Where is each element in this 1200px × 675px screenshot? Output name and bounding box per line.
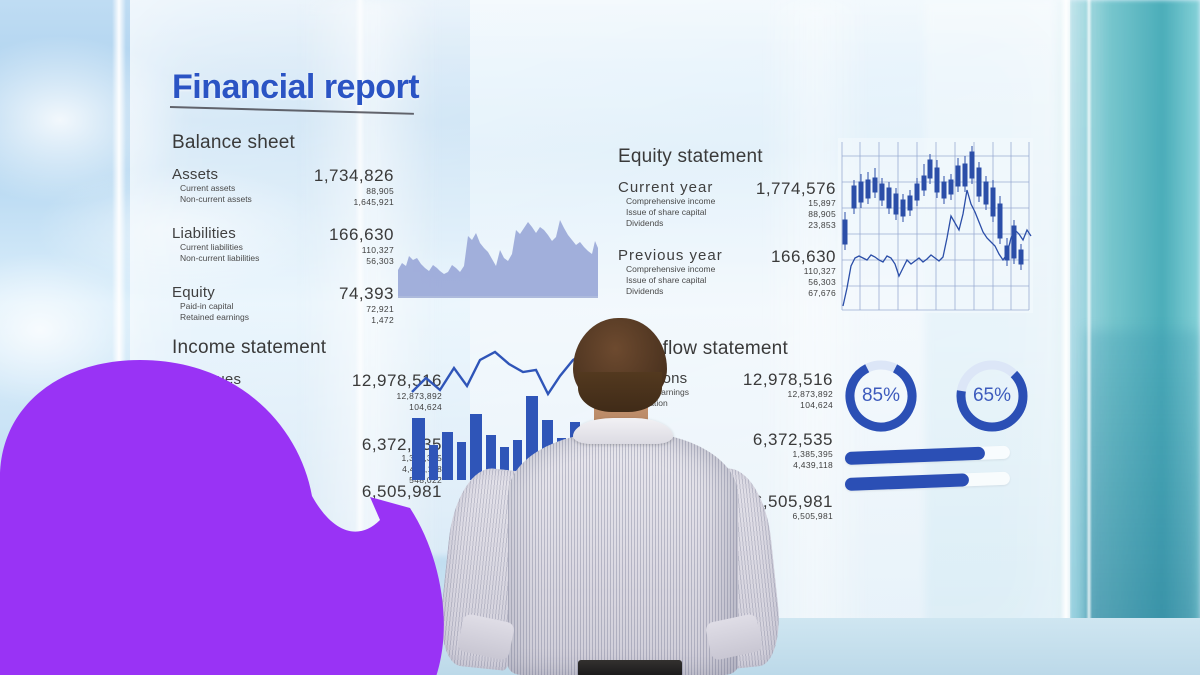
section-heading: Balance sheet bbox=[172, 132, 372, 154]
gauge-left: 85% bbox=[843, 358, 919, 434]
gauge-right: 65% bbox=[954, 358, 1030, 434]
item-value: 1,645,921 bbox=[284, 197, 394, 208]
item-value: 23,853 bbox=[706, 220, 836, 231]
window-mullion-right bbox=[1060, 0, 1072, 675]
candlestick-chart-plot-background bbox=[838, 138, 1033, 313]
group-total: 74,393 bbox=[284, 284, 394, 304]
item-value: 56,303 bbox=[706, 277, 836, 288]
shirt-collar bbox=[573, 418, 673, 444]
group-total: 166,630 bbox=[284, 225, 394, 245]
group-total: 1,734,826 bbox=[284, 166, 394, 186]
group-total: 166,630 bbox=[706, 247, 836, 267]
belt bbox=[578, 660, 682, 675]
hair-back bbox=[578, 372, 662, 412]
item-value: 15,897 bbox=[706, 198, 836, 209]
section-balance-sheet: Balance sheet Assets 1,734,826 Current a… bbox=[172, 132, 372, 326]
item-value: 88,905 bbox=[706, 209, 836, 220]
gauge-left-label: 85% bbox=[843, 358, 919, 434]
purple-brand-shape-path bbox=[0, 360, 444, 675]
screenshot-root: Financial report Balance sheet Assets 1,… bbox=[0, 0, 1200, 675]
item-value: 110,327 bbox=[706, 266, 836, 277]
group-total: 1,774,576 bbox=[706, 179, 836, 199]
item-value: 67,676 bbox=[706, 288, 836, 299]
page-title: Financial report bbox=[172, 68, 419, 107]
item-value: 72,921 bbox=[284, 304, 394, 315]
businessman-figure bbox=[432, 318, 782, 675]
item-value: 1,472 bbox=[284, 315, 394, 326]
area-chart-series bbox=[398, 220, 598, 298]
area-chart bbox=[398, 208, 598, 298]
candlestick-chart bbox=[838, 138, 1033, 313]
torso-shirt bbox=[508, 432, 738, 675]
gauge-right-label: 65% bbox=[954, 358, 1030, 434]
item-value: 110,327 bbox=[284, 245, 394, 256]
section-heading: Income statement bbox=[172, 337, 372, 359]
section-equity-statement: Equity statement Current year 1,774,576 … bbox=[618, 146, 828, 299]
item-value: 56,303 bbox=[284, 256, 394, 267]
section-heading: Equity statement bbox=[618, 146, 828, 168]
window-mullion-far-right bbox=[1086, 0, 1092, 675]
purple-brand-shape bbox=[0, 358, 480, 675]
item-value: 88,905 bbox=[284, 186, 394, 197]
